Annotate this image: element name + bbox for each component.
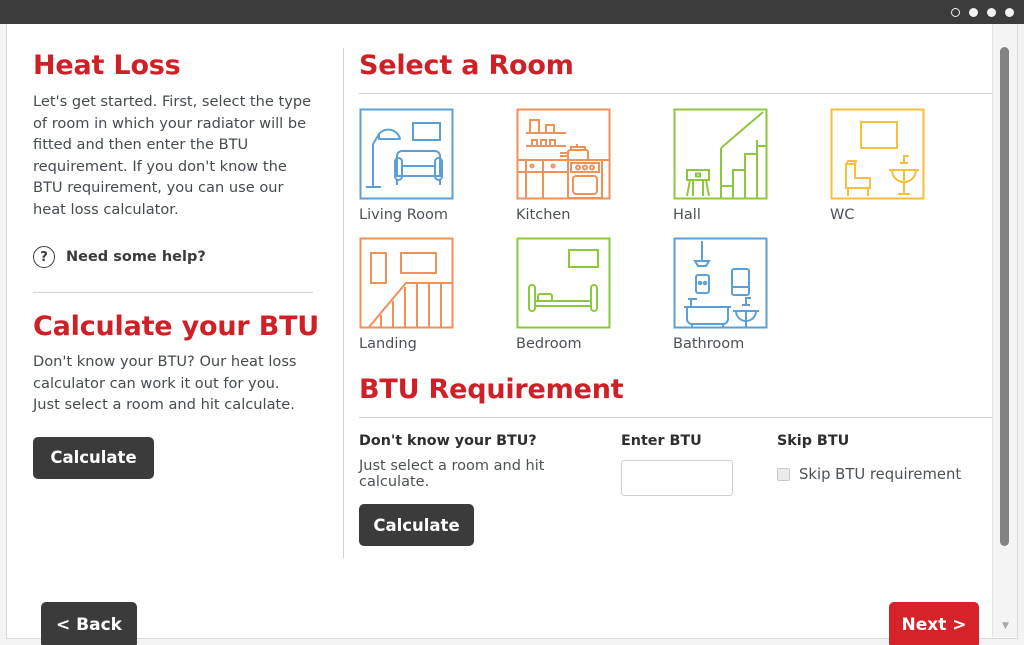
main-panel: Select a Room [359,50,979,538]
landing-icon [359,237,454,329]
page-title: Heat Loss [33,50,323,82]
room-label: Bedroom [516,336,673,352]
scrollbar-thumb[interactable] [1000,47,1009,546]
need-help-link[interactable]: ? Need some help? [33,246,323,268]
sidebar-calculate-button[interactable]: Calculate [33,437,154,479]
btu-divider [359,417,997,418]
skip-btu-checkbox-label: Skip BTU requirement [799,466,961,483]
room-grid: Living Room [359,108,1019,366]
next-button[interactable]: Next > [889,602,979,645]
window-body: Heat Loss Let's get started. First, sele… [6,24,1018,639]
intro-text: Let's get started. First, select the typ… [33,91,316,220]
filled-dot-icon-3[interactable] [1005,8,1014,17]
calculate-btu-text: Don't know your BTU? Our heat loss calcu… [33,351,298,416]
room-label: Landing [359,336,516,352]
hollow-dot-icon[interactable] [951,8,960,17]
skip-btu-column: Skip BTU Skip BTU requirement [777,433,997,483]
question-mark-icon: ? [33,246,55,268]
calculate-btu-title: Calculate your BTU [33,311,323,343]
dont-know-btu-sub: Just select a room and hit calculate. [359,458,609,490]
application-window: Heat Loss Let's get started. First, sele… [0,0,1024,645]
select-room-divider [359,93,997,94]
bathroom-icon [673,237,768,329]
btu-calculate-column: Don't know your BTU? Just select a room … [359,433,609,546]
btu-requirement-section: BTU Requirement Don't know your BTU? Jus… [359,374,979,538]
room-option-hall[interactable]: Hall [673,108,830,223]
room-label: Kitchen [516,207,673,223]
dont-know-btu-label: Don't know your BTU? [359,433,609,449]
room-option-kitchen[interactable]: Kitchen [516,108,673,223]
vertical-scrollbar[interactable]: ▼ [992,24,1017,637]
filled-dot-icon-1[interactable] [969,8,978,17]
btu-requirement-title: BTU Requirement [359,374,979,406]
room-option-bedroom[interactable]: Bedroom [516,237,673,352]
skip-btu-row[interactable]: Skip BTU requirement [777,466,997,483]
room-label: Bathroom [673,336,830,352]
bedroom-icon [516,237,611,329]
wc-icon [830,108,925,200]
room-label: Living Room [359,207,516,223]
scroll-down-arrow-icon[interactable]: ▼ [993,621,1018,631]
btu-calculate-button[interactable]: Calculate [359,504,474,546]
room-option-living-room[interactable]: Living Room [359,108,516,223]
enter-btu-column: Enter BTU [621,433,761,496]
hall-icon [673,108,768,200]
content-area: Heat Loss Let's get started. First, sele… [7,24,993,637]
title-bar [0,0,1024,24]
select-room-title: Select a Room [359,50,979,82]
room-option-bathroom[interactable]: Bathroom [673,237,830,352]
room-label: Hall [673,207,830,223]
calculate-btu-section: Calculate your BTU Don't know your BTU? … [33,311,323,479]
sidebar-divider [33,292,313,293]
sidebar-panel: Heat Loss Let's get started. First, sele… [33,50,323,479]
btu-input[interactable] [621,460,733,496]
enter-btu-label: Enter BTU [621,433,761,449]
room-label: WC [830,207,987,223]
btu-columns: Don't know your BTU? Just select a room … [359,433,999,538]
window-controls [951,0,1014,24]
column-divider [343,48,344,558]
skip-btu-label: Skip BTU [777,433,997,449]
room-option-landing[interactable]: Landing [359,237,516,352]
back-button[interactable]: < Back [41,602,137,645]
kitchen-icon [516,108,611,200]
living-room-icon [359,108,454,200]
need-help-label: Need some help? [66,249,206,265]
skip-btu-checkbox[interactable] [777,468,790,481]
room-option-wc[interactable]: WC [830,108,987,223]
filled-dot-icon-2[interactable] [987,8,996,17]
